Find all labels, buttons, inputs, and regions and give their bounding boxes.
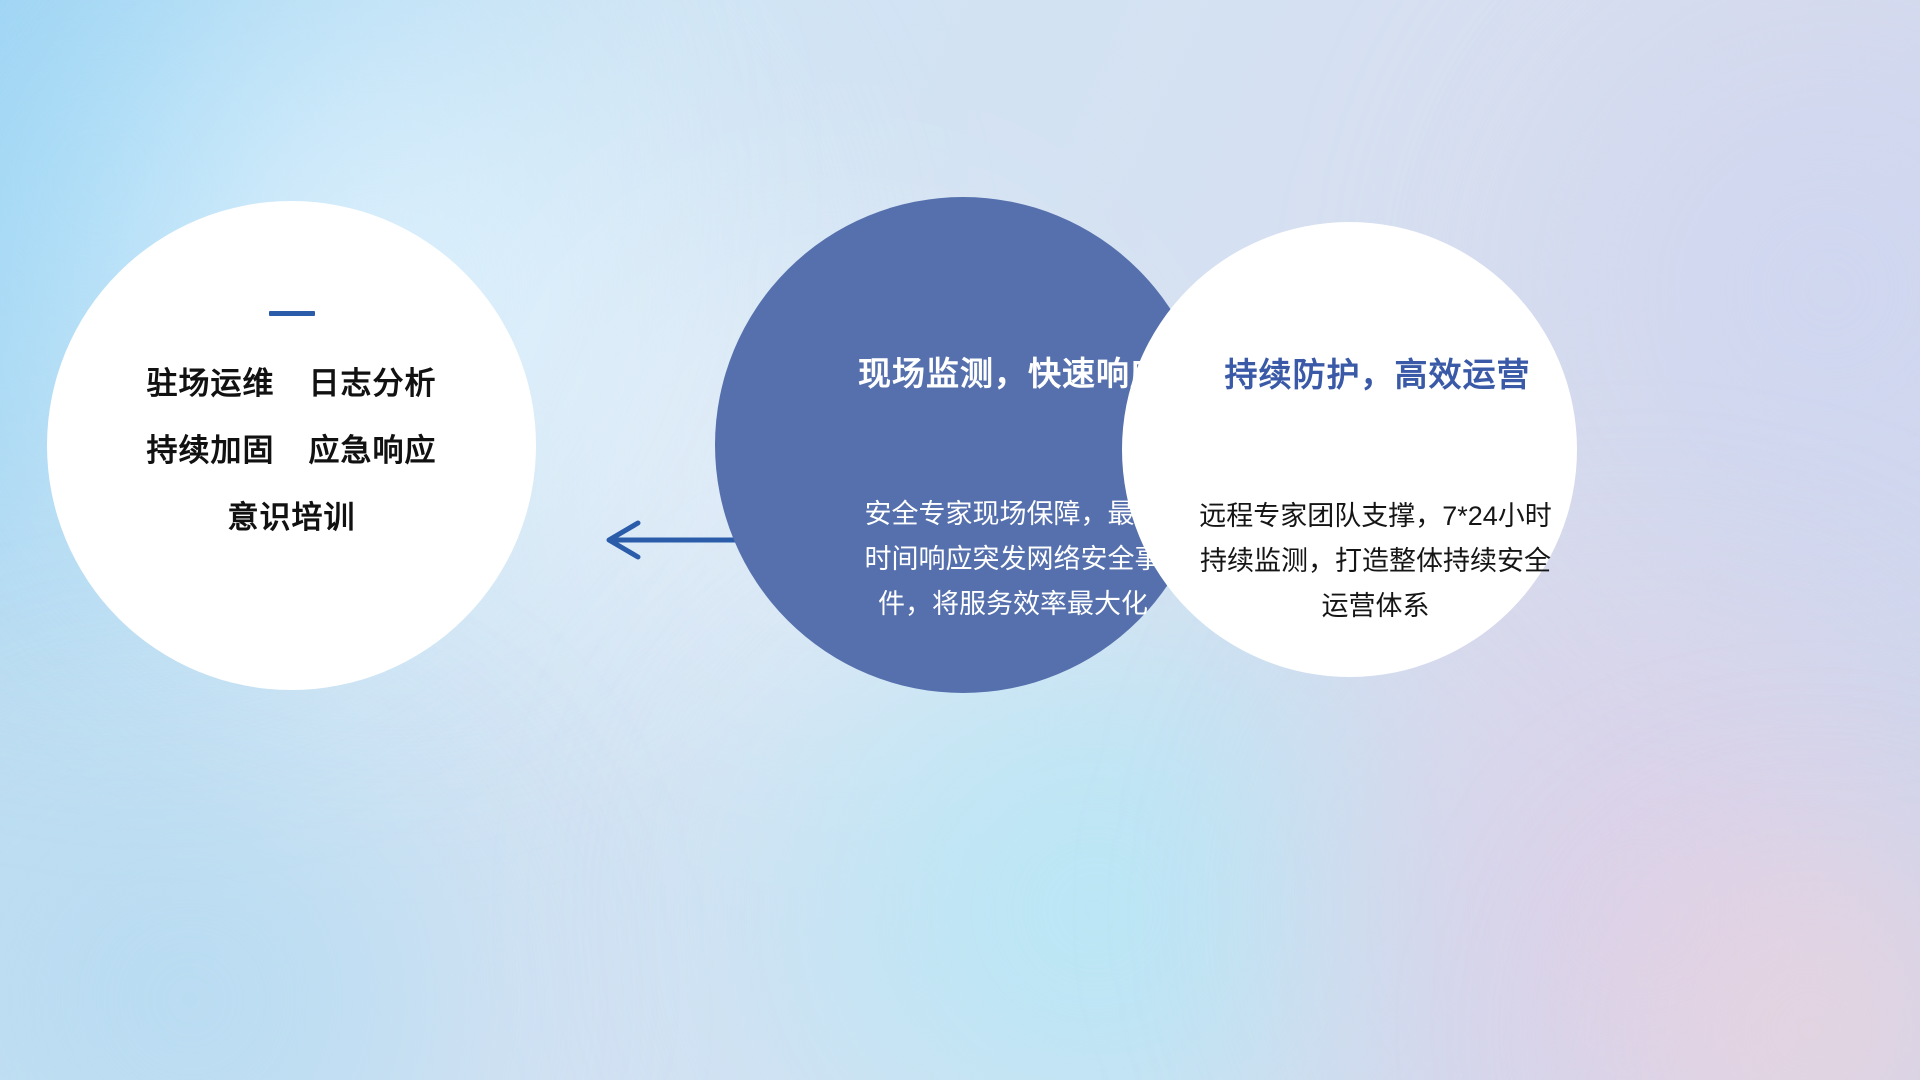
tag-item: 持续加固 bbox=[147, 425, 275, 470]
right-circle-card[interactable]: 持续防护，高效运营 远程专家团队支撑，7*24小时持续监测，打造整体持续安全运营… bbox=[1122, 222, 1577, 677]
tag-item: 驻场运维 bbox=[147, 358, 275, 403]
left-circle-content: 驻场运维 日志分析 持续加固 应急响应 意识培训 bbox=[47, 311, 536, 537]
tag-item: 意识培训 bbox=[228, 492, 356, 537]
left-circle-tag-row: 驻场运维 日志分析 bbox=[47, 358, 536, 403]
right-circle-title: 持续防护，高效运营 bbox=[1150, 348, 1605, 396]
slide-canvas: 现场监测，快速响应 安全专家现场保障，最短时间响应突发网络安全事件，将服务效率最… bbox=[0, 0, 1920, 1080]
center-circle-body: 安全专家现场保障，最短时间响应突发网络安全事件，将服务效率最大化 bbox=[863, 492, 1163, 627]
right-circle-content: 持续防护，高效运营 远程专家团队支撑，7*24小时持续监测，打造整体持续安全运营… bbox=[1122, 222, 1577, 677]
left-circle-tag-row: 持续加固 应急响应 bbox=[47, 425, 536, 470]
left-circle-tag-row: 意识培训 bbox=[47, 492, 536, 537]
tag-item: 日志分析 bbox=[309, 358, 437, 403]
tag-item: 应急响应 bbox=[309, 425, 437, 470]
left-circle-card[interactable]: 驻场运维 日志分析 持续加固 应急响应 意识培训 bbox=[47, 201, 536, 690]
right-circle-body: 远程专家团队支撑，7*24小时持续监测，打造整体持续安全运营体系 bbox=[1191, 494, 1561, 629]
divider-dash-icon bbox=[269, 311, 315, 316]
